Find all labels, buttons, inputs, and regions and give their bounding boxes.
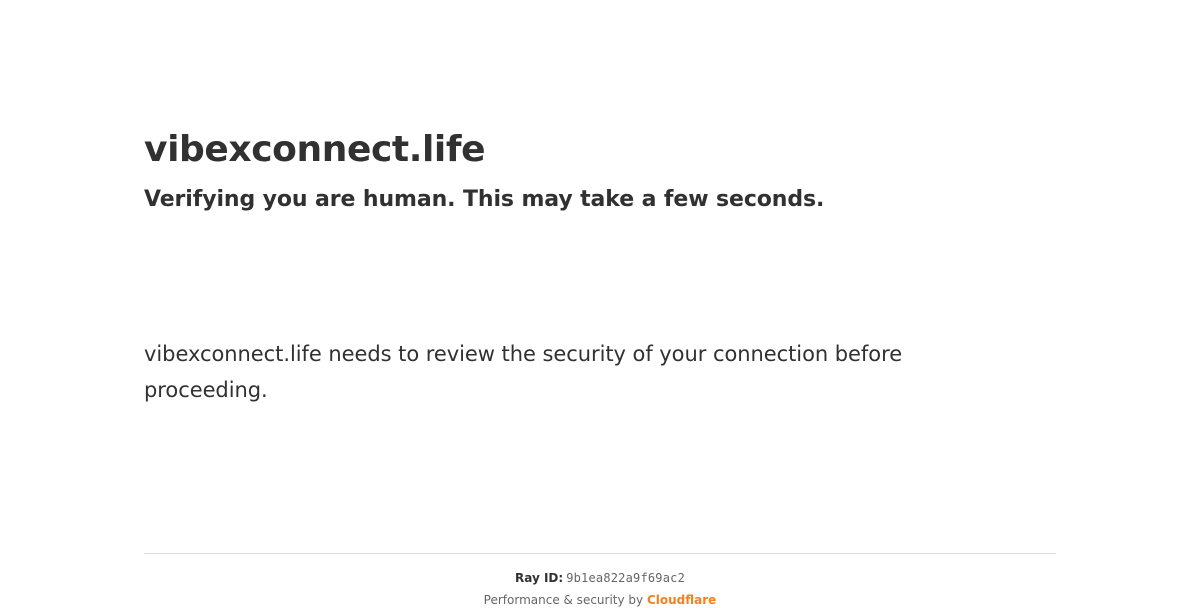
top-spacer xyxy=(144,0,1056,128)
ray-id-line: Ray ID:9b1ea822a9f69ac2 xyxy=(144,570,1056,586)
page-title: vibexconnect.life xyxy=(144,128,1056,172)
turnstile-challenge-widget[interactable] xyxy=(144,232,444,336)
ray-id-label: Ray ID: xyxy=(515,571,563,585)
ray-id-value: 9b1ea822a9f69ac2 xyxy=(566,571,685,585)
verification-status-text: Verifying you are human. This may take a… xyxy=(144,186,1056,214)
main-content: vibexconnect.life Verifying you are huma… xyxy=(144,0,1056,408)
cloudflare-logo[interactable]: Cloudflare xyxy=(647,593,716,607)
branding-prefix: Performance & security by xyxy=(484,593,643,607)
security-review-message: vibexconnect.life needs to review the se… xyxy=(144,336,944,408)
challenge-page: vibexconnect.life Verifying you are huma… xyxy=(0,0,1200,600)
branding-line: Performance & security by Cloudflare xyxy=(144,592,1056,608)
